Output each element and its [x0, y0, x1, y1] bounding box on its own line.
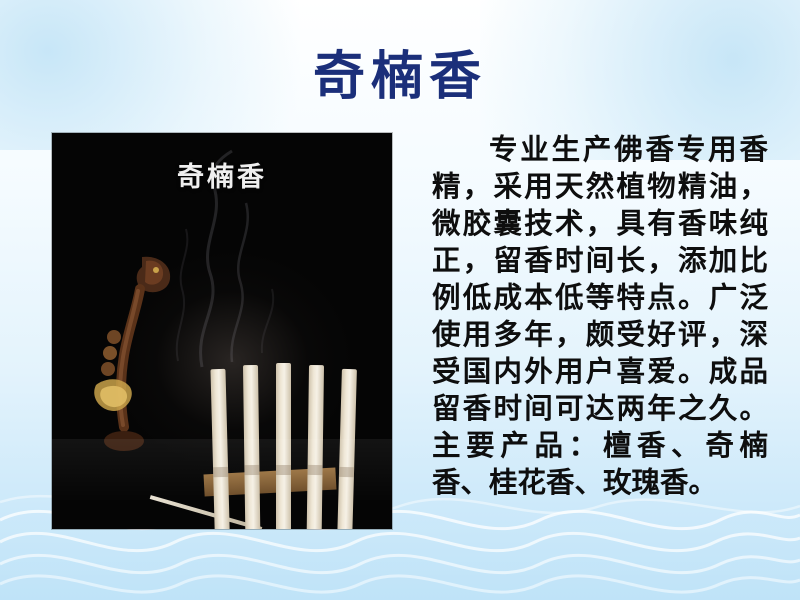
- product-photo: 奇楠香: [52, 133, 392, 529]
- page-title: 奇楠香: [0, 34, 800, 109]
- body-paragraph: 专业生产佛香专用香精，采用天然植物精油，微胶囊技术，具有香味纯正，留香时间长，添…: [432, 131, 768, 501]
- photo-reflection: [52, 439, 392, 529]
- slide: 奇楠香: [0, 0, 800, 600]
- photo-caption: 奇楠香: [52, 155, 392, 194]
